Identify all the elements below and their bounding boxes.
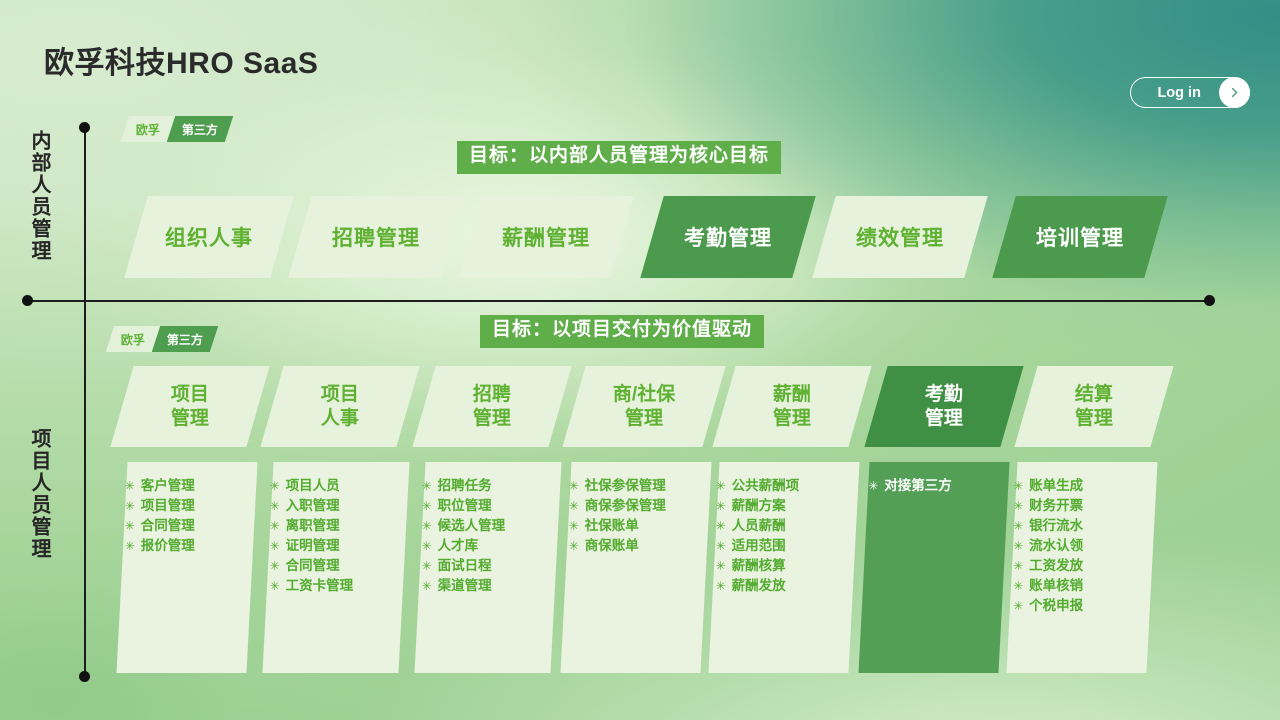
bullet-icon: ✳ <box>569 517 585 536</box>
bullet-icon: ✳ <box>422 537 438 556</box>
list-item[interactable]: ✳候选人管理 <box>422 516 558 536</box>
project-column-title: 招聘管理 <box>473 383 511 431</box>
project-column-title-line1: 商/社保 <box>613 383 675 407</box>
list-item-label: 薪酬发放 <box>732 576 786 595</box>
internal-module-label: 组织人事 <box>165 222 253 252</box>
internal-module-card[interactable]: 招聘管理 <box>288 196 464 278</box>
list-item-label: 财务开票 <box>1029 496 1083 515</box>
list-item[interactable]: ✳职位管理 <box>422 496 558 516</box>
list-item-label: 项目管理 <box>141 496 195 515</box>
bullet-icon: ✳ <box>422 477 438 496</box>
list-item[interactable]: ✳离职管理 <box>270 516 406 536</box>
legend-third-chip: 第三方 <box>167 116 233 142</box>
internal-module-card[interactable]: 培训管理 <box>992 196 1168 278</box>
project-column-title-line1: 薪酬 <box>773 383 811 407</box>
legend-internal: 欧孚 第三方 <box>121 116 233 142</box>
project-column-title-line1: 项目 <box>171 383 209 407</box>
list-item-label: 入职管理 <box>286 496 340 515</box>
project-column-body: ✳社保参保管理✳商保参保管理✳社保账单✳商保账单 <box>560 462 711 673</box>
project-column-title-line2: 管理 <box>925 407 963 431</box>
page-title: 欧孚科技HRO SaaS <box>44 38 318 82</box>
project-column-title-line2: 管理 <box>613 407 675 431</box>
project-column-body: ✳账单生成✳财务开票✳银行流水✳流水认领✳工资发放✳账单核销✳个税申报 <box>1006 462 1157 673</box>
bullet-icon: ✳ <box>569 477 585 496</box>
list-item-label: 个税申报 <box>1029 596 1083 615</box>
list-item-label: 合同管理 <box>141 516 195 535</box>
project-feature-list: ✳客户管理✳项目管理✳合同管理✳报价管理 <box>125 476 255 556</box>
bullet-icon: ✳ <box>716 537 732 556</box>
list-item[interactable]: ✳证明管理 <box>270 536 406 556</box>
list-item-label: 候选人管理 <box>438 516 506 535</box>
list-item-label: 社保参保管理 <box>585 476 666 495</box>
project-column-title-line1: 项目 <box>321 383 359 407</box>
project-column-title-line1: 招聘 <box>473 383 511 407</box>
list-item-label: 人员薪酬 <box>732 516 786 535</box>
goal-banner-project: 目标：以项目交付为价值驱动 <box>480 315 764 348</box>
legend-own-label: 欧孚 <box>136 121 160 138</box>
list-item[interactable]: ✳流水认领 <box>1013 536 1153 556</box>
list-item-label: 商保参保管理 <box>585 496 666 515</box>
project-column-header[interactable]: 结算管理 <box>1014 366 1173 447</box>
project-column-body: ✳公共薪酬项✳薪酬方案✳人员薪酬✳适用范围✳薪酬核算✳薪酬发放 <box>708 462 859 673</box>
list-item-label: 银行流水 <box>1029 516 1083 535</box>
list-item-label: 商保账单 <box>585 536 639 555</box>
project-module-row: 项目管理✳客户管理✳项目管理✳合同管理✳报价管理项目人事✳项目人员✳入职管理✳离… <box>0 366 1280 676</box>
list-item-label: 离职管理 <box>286 516 340 535</box>
project-feature-list: ✳项目人员✳入职管理✳离职管理✳证明管理✳合同管理✳工资卡管理 <box>270 476 406 596</box>
bullet-icon: ✳ <box>1013 497 1029 516</box>
axis-horizontal-line <box>27 300 1210 302</box>
list-item-label: 工资卡管理 <box>286 576 354 595</box>
list-item[interactable]: ✳个税申报 <box>1013 596 1153 616</box>
internal-module-label: 考勤管理 <box>684 222 772 252</box>
login-button[interactable]: Log in <box>1130 77 1250 108</box>
bullet-icon: ✳ <box>716 517 732 536</box>
internal-module-label: 薪酬管理 <box>502 222 590 252</box>
list-item[interactable]: ✳工资发放 <box>1013 556 1153 576</box>
list-item-label: 账单生成 <box>1029 476 1083 495</box>
internal-module-card[interactable]: 薪酬管理 <box>458 196 634 278</box>
bullet-icon: ✳ <box>422 497 438 516</box>
list-item[interactable]: ✳招聘任务 <box>422 476 558 496</box>
list-item[interactable]: ✳账单生成 <box>1013 476 1153 496</box>
internal-module-label: 招聘管理 <box>332 222 420 252</box>
legend-own-label: 欧孚 <box>121 331 145 348</box>
legend-third-label: 第三方 <box>182 121 218 138</box>
internal-module-row: 组织人事招聘管理薪酬管理考勤管理绩效管理培训管理 <box>0 196 1280 278</box>
list-item[interactable]: ✳合同管理 <box>125 516 255 536</box>
internal-module-card[interactable]: 绩效管理 <box>812 196 988 278</box>
bullet-icon: ✳ <box>270 577 286 596</box>
list-item[interactable]: ✳项目管理 <box>125 496 255 516</box>
project-column-title: 商/社保管理 <box>613 383 675 431</box>
bullet-icon: ✳ <box>1013 517 1029 536</box>
axis-dot-left <box>22 295 33 306</box>
project-column-title: 结算管理 <box>1075 383 1113 431</box>
bullet-icon: ✳ <box>125 497 141 516</box>
internal-module-label: 培训管理 <box>1036 222 1124 252</box>
project-feature-list: ✳公共薪酬项✳薪酬方案✳人员薪酬✳适用范围✳薪酬核算✳薪酬发放 <box>716 476 856 596</box>
list-item[interactable]: ✳项目人员 <box>270 476 406 496</box>
list-item[interactable]: ✳商保账单 <box>569 536 709 556</box>
bullet-icon: ✳ <box>125 537 141 556</box>
list-item-label: 账单核销 <box>1029 576 1083 595</box>
project-column-header[interactable]: 招聘管理 <box>412 366 571 447</box>
bullet-icon: ✳ <box>270 557 286 576</box>
bullet-icon: ✳ <box>422 517 438 536</box>
list-item-label: 招聘任务 <box>438 476 492 495</box>
list-item-label: 流水认领 <box>1029 536 1083 555</box>
bullet-icon: ✳ <box>868 477 884 496</box>
list-item-label: 薪酬方案 <box>732 496 786 515</box>
list-item[interactable]: ✳人员薪酬 <box>716 516 856 536</box>
list-item-label: 适用范围 <box>732 536 786 555</box>
bullet-icon: ✳ <box>270 537 286 556</box>
project-column-title-line1: 结算 <box>1075 383 1113 407</box>
login-button-label: Log in <box>1131 85 1219 101</box>
project-column-title: 薪酬管理 <box>773 383 811 431</box>
bullet-icon: ✳ <box>270 477 286 496</box>
list-item[interactable]: ✳报价管理 <box>125 536 255 556</box>
bullet-icon: ✳ <box>1013 597 1029 616</box>
list-item[interactable]: ✳薪酬核算 <box>716 556 856 576</box>
legend-third-label: 第三方 <box>167 331 203 348</box>
slide-canvas: 欧孚科技HRO SaaS Log in 内部人员管理 项目人员管理 欧孚 第三方… <box>0 0 1280 720</box>
bullet-icon: ✳ <box>1013 557 1029 576</box>
project-column-title-line2: 管理 <box>773 407 811 431</box>
project-column-header[interactable]: 项目管理 <box>110 366 269 447</box>
bullet-icon: ✳ <box>422 577 438 596</box>
bullet-icon: ✳ <box>569 537 585 556</box>
project-feature-list: ✳对接第三方 <box>868 476 1008 496</box>
project-column-title: 项目管理 <box>171 383 209 431</box>
list-item[interactable]: ✳渠道管理 <box>422 576 558 596</box>
project-column-header[interactable]: 考勤管理 <box>864 366 1023 447</box>
internal-module-label: 绩效管理 <box>856 222 944 252</box>
list-item[interactable]: ✳公共薪酬项 <box>716 476 856 496</box>
axis-dot-top <box>79 122 90 133</box>
list-item-label: 职位管理 <box>438 496 492 515</box>
bullet-icon: ✳ <box>716 477 732 496</box>
bullet-icon: ✳ <box>422 557 438 576</box>
legend-project: 欧孚 第三方 <box>106 326 218 352</box>
bullet-icon: ✳ <box>270 497 286 516</box>
project-column-title: 项目人事 <box>321 383 359 431</box>
project-column-body: ✳客户管理✳项目管理✳合同管理✳报价管理 <box>116 462 257 673</box>
goal-banner-internal: 目标：以内部人员管理为核心目标 <box>457 141 781 174</box>
list-item-label: 面试日程 <box>438 556 492 575</box>
list-item-label: 社保账单 <box>585 516 639 535</box>
list-item-label: 合同管理 <box>286 556 340 575</box>
list-item[interactable]: ✳社保参保管理 <box>569 476 709 496</box>
project-column-title-line2: 管理 <box>473 407 511 431</box>
list-item-label: 工资发放 <box>1029 556 1083 575</box>
bullet-icon: ✳ <box>716 577 732 596</box>
legend-third-chip: 第三方 <box>152 326 218 352</box>
bullet-icon: ✳ <box>1013 577 1029 596</box>
list-item[interactable]: ✳入职管理 <box>270 496 406 516</box>
project-column-header[interactable]: 商/社保管理 <box>562 366 725 447</box>
bullet-icon: ✳ <box>716 497 732 516</box>
project-column-title-line2: 管理 <box>171 407 209 431</box>
list-item-label: 薪酬核算 <box>732 556 786 575</box>
project-feature-list: ✳账单生成✳财务开票✳银行流水✳流水认领✳工资发放✳账单核销✳个税申报 <box>1013 476 1153 616</box>
project-column-title: 考勤管理 <box>925 383 963 431</box>
list-item[interactable]: ✳面试日程 <box>422 556 558 576</box>
axis-dot-right <box>1204 295 1215 306</box>
project-feature-list: ✳社保参保管理✳商保参保管理✳社保账单✳商保账单 <box>569 476 709 556</box>
list-item[interactable]: ✳账单核销 <box>1013 576 1153 596</box>
bullet-icon: ✳ <box>125 517 141 536</box>
list-item-label: 项目人员 <box>286 476 340 495</box>
bullet-icon: ✳ <box>716 557 732 576</box>
list-item-label: 公共薪酬项 <box>732 476 800 495</box>
list-item-label: 客户管理 <box>141 476 195 495</box>
list-item[interactable]: ✳工资卡管理 <box>270 576 406 596</box>
list-item[interactable]: ✳对接第三方 <box>868 476 1008 496</box>
internal-module-card[interactable]: 组织人事 <box>124 196 294 278</box>
list-item[interactable]: ✳客户管理 <box>125 476 255 496</box>
project-column-body: ✳项目人员✳入职管理✳离职管理✳证明管理✳合同管理✳工资卡管理 <box>262 462 409 673</box>
list-item-label: 报价管理 <box>141 536 195 555</box>
bullet-icon: ✳ <box>1013 477 1029 496</box>
project-column-body: ✳招聘任务✳职位管理✳候选人管理✳人才库✳面试日程✳渠道管理 <box>414 462 561 673</box>
project-feature-list: ✳招聘任务✳职位管理✳候选人管理✳人才库✳面试日程✳渠道管理 <box>422 476 558 596</box>
bullet-icon: ✳ <box>125 477 141 496</box>
project-column-title-line2: 管理 <box>1075 407 1113 431</box>
project-column-body: ✳对接第三方 <box>858 462 1009 673</box>
list-item[interactable]: ✳财务开票 <box>1013 496 1153 516</box>
list-item-label: 人才库 <box>438 536 479 555</box>
list-item-label: 渠道管理 <box>438 576 492 595</box>
list-item-label: 对接第三方 <box>884 476 952 495</box>
bullet-icon: ✳ <box>1013 537 1029 556</box>
bullet-icon: ✳ <box>569 497 585 516</box>
list-item[interactable]: ✳适用范围 <box>716 536 856 556</box>
list-item[interactable]: ✳商保参保管理 <box>569 496 709 516</box>
list-item[interactable]: ✳人才库 <box>422 536 558 556</box>
project-column-header[interactable]: 薪酬管理 <box>712 366 871 447</box>
list-item-label: 证明管理 <box>286 536 340 555</box>
project-column-title-line2: 人事 <box>321 407 359 431</box>
list-item[interactable]: ✳社保账单 <box>569 516 709 536</box>
list-item[interactable]: ✳合同管理 <box>270 556 406 576</box>
bullet-icon: ✳ <box>270 517 286 536</box>
internal-module-card[interactable]: 考勤管理 <box>640 196 816 278</box>
list-item[interactable]: ✳银行流水 <box>1013 516 1153 536</box>
list-item[interactable]: ✳薪酬发放 <box>716 576 856 596</box>
project-column-header[interactable]: 项目人事 <box>260 366 419 447</box>
list-item[interactable]: ✳薪酬方案 <box>716 496 856 516</box>
project-column-title-line1: 考勤 <box>925 383 963 407</box>
